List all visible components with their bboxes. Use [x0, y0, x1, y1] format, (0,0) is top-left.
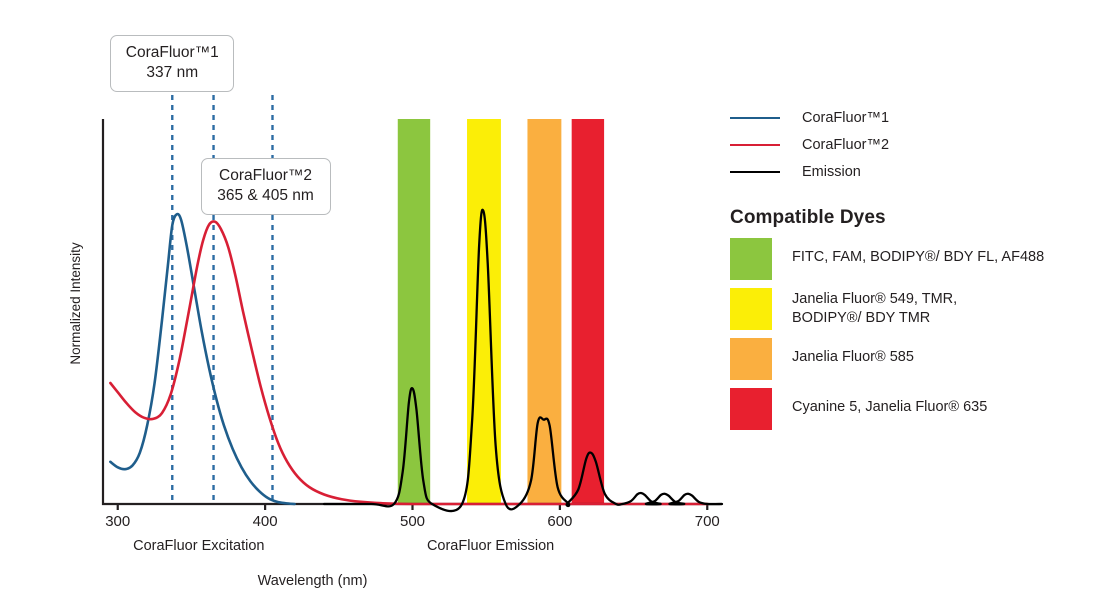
dye-color-swatch — [730, 238, 772, 280]
series-legend: CoraFluor™1CoraFluor™2Emission — [730, 104, 1100, 185]
dye-item-1: Janelia Fluor® 549, TMR,BODIPY®/ BDY TMR — [730, 288, 1100, 330]
dye-color-swatch — [730, 388, 772, 430]
callout-cora1: CoraFluor™1 337 nm — [110, 35, 234, 92]
legend-item-label: CoraFluor™1 — [802, 110, 889, 126]
legend-line-swatch — [730, 117, 780, 119]
dye-item-label-line2: BODIPY®/ BDY TMR — [792, 309, 957, 328]
legend-line-swatch — [730, 144, 780, 146]
legend-line-swatch — [730, 171, 780, 173]
callout-cora2: CoraFluor™2 365 & 405 nm — [201, 158, 331, 215]
excitation-markers — [172, 95, 272, 504]
callout-cora1-line2: 337 nm — [123, 63, 221, 83]
green-band — [398, 119, 430, 504]
legend-item-label: CoraFluor™2 — [802, 137, 889, 153]
red-band — [572, 119, 604, 504]
dye-item-label-line1: Cyanine 5, Janelia Fluor® 635 — [792, 399, 987, 415]
dye-item-label: Cyanine 5, Janelia Fluor® 635 — [792, 388, 987, 417]
legend-item-label: Emission — [802, 164, 861, 180]
legend-item-2: Emission — [730, 158, 1100, 185]
legend-item-1: CoraFluor™2 — [730, 131, 1100, 158]
x-tick-label-300: 300 — [105, 513, 130, 530]
curve-emission — [324, 210, 722, 511]
compatible-dyes-title: Compatible Dyes — [730, 207, 1100, 229]
wavelength-bands — [398, 119, 604, 504]
dye-item-label-line1: Janelia Fluor® 585 — [792, 349, 914, 365]
callout-cora1-line1: CoraFluor™1 — [126, 44, 219, 61]
dye-item-label-line1: FITC, FAM, BODIPY®/ BDY FL, AF488 — [792, 249, 1044, 265]
x-axis-ticks: 300400500600700 — [105, 504, 720, 530]
compatible-dyes-list: FITC, FAM, BODIPY®/ BDY FL, AF488Janelia… — [730, 238, 1100, 430]
y-axis-title: Normalized Intensity — [68, 242, 83, 365]
x-tick-label-400: 400 — [253, 513, 278, 530]
axis-section-label-0: CoraFluor Excitation — [133, 538, 264, 554]
dye-item-3: Cyanine 5, Janelia Fluor® 635 — [730, 388, 1100, 430]
legend-item-0: CoraFluor™1 — [730, 104, 1100, 131]
legend-panel: CoraFluor™1CoraFluor™2Emission Compatibl… — [730, 104, 1100, 438]
dye-color-swatch — [730, 288, 772, 330]
chart-figure: 300400500600700 CoraFluor ExcitationCora… — [0, 0, 1110, 612]
dye-item-label: Janelia Fluor® 549, TMR,BODIPY®/ BDY TMR — [792, 288, 957, 329]
callout-cora2-line2: 365 & 405 nm — [214, 186, 318, 206]
dye-item-label-line1: Janelia Fluor® 549, TMR, — [792, 291, 957, 307]
x-axis-title: Wavelength (nm) — [258, 573, 368, 589]
dye-item-0: FITC, FAM, BODIPY®/ BDY FL, AF488 — [730, 238, 1100, 280]
dye-item-label: FITC, FAM, BODIPY®/ BDY FL, AF488 — [792, 238, 1044, 267]
x-tick-label-500: 500 — [400, 513, 425, 530]
x-tick-label-700: 700 — [695, 513, 720, 530]
axis-section-label-1: CoraFluor Emission — [427, 538, 554, 554]
dye-item-label: Janelia Fluor® 585 — [792, 338, 914, 367]
x-tick-label-600: 600 — [547, 513, 572, 530]
dye-item-2: Janelia Fluor® 585 — [730, 338, 1100, 380]
callout-cora2-line1: CoraFluor™2 — [219, 167, 312, 184]
curve-corafluor1 — [110, 214, 294, 504]
dye-color-swatch — [730, 338, 772, 380]
orange-band — [527, 119, 561, 504]
